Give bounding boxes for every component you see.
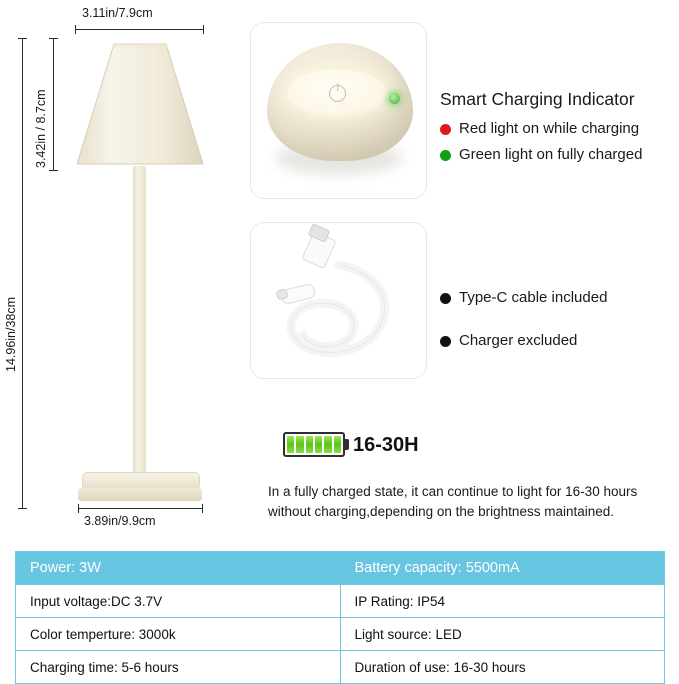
spec-cell-ip-rating: IP Rating: IP54	[340, 585, 665, 618]
base-width-cap-left	[78, 504, 79, 513]
shade-height-line	[53, 38, 54, 170]
charging-bullet-red: Red light on while charging	[440, 120, 639, 137]
shade-width-label: 3.11in/7.9cm	[82, 6, 153, 20]
spec-header-battery: Battery capacity: 5500mA	[340, 552, 665, 585]
shade-height-cap-top	[49, 38, 58, 39]
table-row: Input voltage:DC 3.7V IP Rating: IP54	[16, 585, 665, 618]
charging-bullet-red-text: Red light on while charging	[459, 120, 639, 137]
cable-bullet-typec-text: Type-C cable included	[459, 289, 607, 306]
charging-indicator-photo	[250, 22, 427, 199]
total-height-cap-bottom	[18, 508, 27, 509]
cable-photo-svg	[251, 223, 426, 378]
spec-cell-input-voltage: Input voltage:DC 3.7V	[16, 585, 341, 618]
table-row: Color temperture: 3000k Light source: LE…	[16, 618, 665, 651]
shade-width-cap-right	[203, 25, 204, 34]
spec-cell-light-source: Light source: LED	[340, 618, 665, 651]
total-height-cap-top	[18, 38, 27, 39]
shade-width-line	[75, 29, 203, 30]
lamp-shade-svg	[70, 40, 210, 168]
battery-cell-4	[315, 436, 322, 453]
battery-cell-5	[324, 436, 331, 453]
battery-cell-1	[287, 436, 294, 453]
usb-a-connector	[302, 224, 336, 269]
spec-cell-charging-time: Charging time: 5-6 hours	[16, 651, 341, 684]
total-height-line	[22, 38, 23, 508]
spec-cell-color-temperature: Color temperture: 3000k	[16, 618, 341, 651]
battery-cell-2	[296, 436, 303, 453]
black-dot-icon-1	[440, 293, 451, 304]
lamp-base-foot	[78, 488, 202, 501]
total-height-label: 14.96in/38cm	[4, 297, 18, 372]
green-indicator-led	[389, 93, 400, 104]
product-infographic: 3.11in/7.9cm 3.42in / 8.7cm 14.96in/38cm…	[0, 0, 679, 683]
black-dot-icon-2	[440, 336, 451, 347]
spec-table-header-row: Power: 3W Battery capacity: 5500mA	[16, 552, 665, 585]
lamp-shade	[70, 40, 210, 168]
charging-indicator-heading: Smart Charging Indicator	[440, 89, 635, 110]
battery-tip-icon	[345, 439, 349, 450]
spec-table: Power: 3W Battery capacity: 5500mA Input…	[15, 551, 665, 684]
base-width-label: 3.89in/9.9cm	[84, 514, 156, 528]
cable-bullet-charger-text: Charger excluded	[459, 332, 577, 349]
battery-cell-6	[334, 436, 341, 453]
table-row: Charging time: 5-6 hours Duration of use…	[16, 651, 665, 684]
green-dot-icon	[440, 150, 451, 161]
cable-photo	[250, 222, 427, 379]
battery-cell-3	[306, 436, 313, 453]
battery-icon	[283, 432, 345, 457]
cable-bullet-charger: Charger excluded	[440, 332, 577, 349]
spec-header-power: Power: 3W	[16, 552, 341, 585]
shade-height-cap-bottom	[49, 170, 58, 171]
base-width-line	[78, 508, 202, 509]
battery-runtime-label: 16-30H	[353, 434, 419, 457]
lamp-stem	[133, 166, 146, 474]
spec-cell-duration-of-use: Duration of use: 16-30 hours	[340, 651, 665, 684]
battery-description: In a fully charged state, it can continu…	[268, 482, 668, 521]
charging-bullet-green-text: Green light on fully charged	[459, 146, 642, 163]
cable-bullet-typec: Type-C cable included	[440, 289, 620, 306]
base-width-cap-right	[202, 504, 203, 513]
power-button-icon	[329, 85, 346, 102]
shade-height-label: 3.42in / 8.7cm	[34, 89, 48, 168]
charging-bullet-green: Green light on fully charged	[440, 146, 642, 163]
shade-width-cap-left	[75, 25, 76, 34]
red-dot-icon	[440, 124, 451, 135]
